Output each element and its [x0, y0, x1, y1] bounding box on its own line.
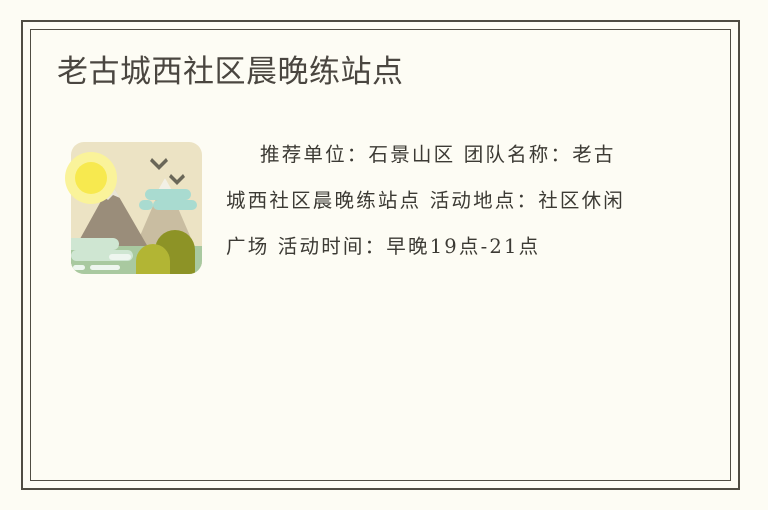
- page-title: 老古城西社区晨晚练站点: [57, 52, 667, 92]
- mountain-landscape-icon: [57, 134, 208, 282]
- page-root: 老古城西社区晨晚练站点: [0, 0, 768, 510]
- page-content: 老古城西社区晨晚练站点: [57, 52, 667, 452]
- landscape-thumbnail: [57, 134, 208, 282]
- detail-body: 推荐单位：石景山区 团队名称：老古城西社区晨晚练站点 活动地点：社区休闲广场 活…: [57, 120, 635, 288]
